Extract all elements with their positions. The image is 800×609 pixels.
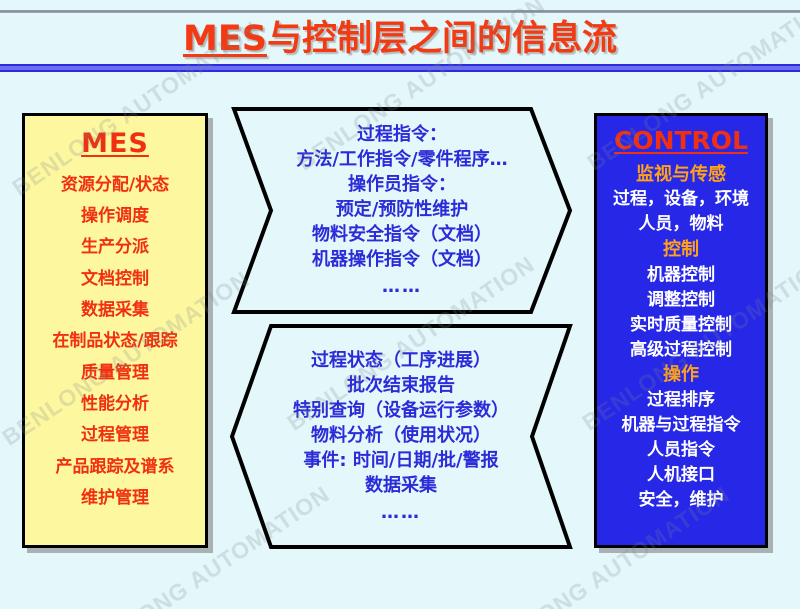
flow-line: 操作员指令： [348, 175, 456, 194]
mes-panel-title: MES [81, 128, 149, 159]
control-item: 调整控制 [647, 292, 715, 310]
flow-arrow-upstream: 过程状态（工序进展） 批次结束报告 特别查询（设备运行参数） 物料分析（使用状况… [229, 323, 573, 550]
flow-line: 过程指令： [357, 125, 447, 144]
mes-item: 生产分派 [81, 238, 149, 256]
mes-item: 资源分配/状态 [61, 176, 169, 194]
flow-line: 物料安全指令（文档） [312, 225, 492, 244]
flow-line: 事件: 时间/日期/批/警报 [303, 451, 498, 470]
control-item: 人机接口 [647, 467, 715, 485]
flow-line: 数据采集 [365, 476, 437, 495]
flow-line: 过程状态（工序进展） [311, 351, 491, 370]
page-title-rest: 与控制层之间的信息流 [267, 19, 617, 59]
mes-item: 在制品状态/跟踪 [52, 332, 177, 350]
mes-item: 产品跟踪及谱系 [56, 458, 175, 476]
control-item: 机器控制 [647, 267, 715, 285]
mes-panel: MES 资源分配/状态 操作调度 生产分派 文档控制 数据采集 在制品状态/跟踪… [22, 113, 208, 548]
control-section-heading: 控制 [663, 241, 699, 260]
page-title-prefix: MES [183, 19, 267, 59]
mes-item: 文档控制 [81, 270, 149, 288]
control-item: 人员指令 [647, 442, 715, 460]
flow-line: 机器操作指令（文档） [312, 250, 492, 269]
mes-item: 维护管理 [81, 489, 149, 507]
flow-line: 方法/工作指令/零件程序… [296, 150, 507, 169]
control-item: 过程，设备，环境 [613, 191, 749, 209]
control-item: 过程排序 [647, 392, 715, 410]
control-panel-title: CONTROL [614, 126, 748, 155]
control-item: 人员，物料 [639, 216, 724, 234]
mes-item: 过程管理 [81, 426, 149, 444]
flow-line-ellipsis: …… [382, 277, 422, 296]
flow-line-ellipsis: …… [381, 503, 421, 522]
mes-item: 数据采集 [81, 301, 149, 319]
mes-item: 性能分析 [81, 395, 149, 413]
control-item: 高级过程控制 [630, 342, 732, 360]
page-title: MES与控制层之间的信息流 [183, 22, 617, 57]
control-panel: CONTROL 监视与传感 过程，设备，环境 人员，物料 控制 机器控制 调整控… [594, 113, 768, 548]
flow-line: 特别查询（设备运行参数） [293, 401, 509, 420]
control-item: 安全，维护 [639, 492, 724, 510]
mes-item: 操作调度 [81, 207, 149, 225]
flow-arrow-downstream-text: 过程指令： 方法/工作指令/零件程序… 操作员指令： 预定/预防性维护 物料安全… [231, 106, 573, 315]
flow-line: 物料分析（使用状况） [311, 426, 491, 445]
flow-line: 预定/预防性维护 [336, 200, 469, 219]
mes-item: 质量管理 [81, 364, 149, 382]
title-band: MES与控制层之间的信息流 [0, 13, 800, 65]
flow-arrow-downstream: 过程指令： 方法/工作指令/零件程序… 操作员指令： 预定/预防性维护 物料安全… [231, 106, 573, 315]
control-item: 实时质量控制 [630, 317, 732, 335]
flow-line: 批次结束报告 [347, 376, 455, 395]
control-item: 机器与过程指令 [622, 417, 741, 435]
control-section-heading: 监视与传感 [636, 166, 726, 185]
flow-arrow-upstream-text: 过程状态（工序进展） 批次结束报告 特别查询（设备运行参数） 物料分析（使用状况… [229, 323, 573, 550]
header-bottom-divider-bottom [0, 70, 800, 72]
control-section-heading: 操作 [663, 366, 699, 385]
